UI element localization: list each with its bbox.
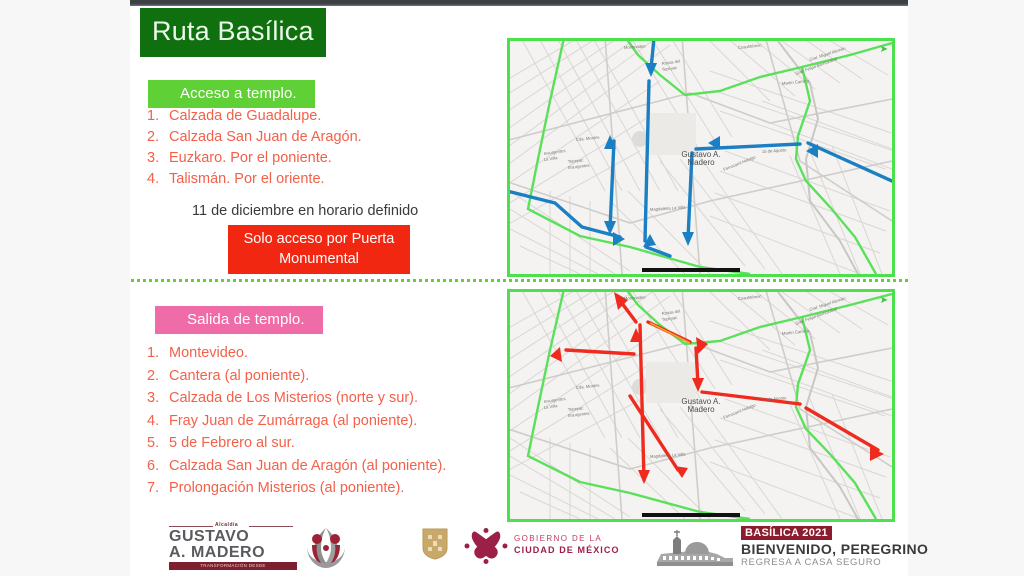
cdmx-line1: GOBIERNO DE LA <box>514 534 602 543</box>
page-title: Ruta Basílica <box>140 8 326 57</box>
list-number: 5. <box>147 432 169 455</box>
basilica-skyline-icon <box>655 528 735 566</box>
list-label: Prolongación Misterios (al poniente). <box>169 477 404 500</box>
list-number: 3. <box>147 148 169 169</box>
block-shape <box>646 113 696 155</box>
logo-basilica-2021: BASÍLICA 2021 BIENVENIDO, PEREGRINO REGR… <box>655 524 900 570</box>
list-number: 1. <box>147 106 169 127</box>
access-route-list: 1. Calzada de Guadalupe. 2. Calzada San … <box>147 106 362 190</box>
list-label: Montevideo. <box>169 342 248 365</box>
list-item: 5. 5 de Febrero al sur. <box>147 432 446 455</box>
list-item: 2. Calzada San Juan de Aragón. <box>147 127 362 148</box>
logo-rule-left <box>169 526 213 527</box>
red-note-line1: Solo acceso por Puerta <box>228 229 410 249</box>
list-label: Fray Juan de Zumárraga (al poniente). <box>169 410 417 433</box>
list-label: Calzada San Juan de Aragón. <box>169 127 362 148</box>
exit-route-list: 1. Montevideo. 2. Cantera (al poniente).… <box>147 342 446 500</box>
slide-root: Ruta Basílica Acceso a templo. 1. Calzad… <box>0 0 1024 576</box>
list-item: 4. Talismán. Por el oriente. <box>147 169 362 190</box>
block-shape <box>646 362 696 403</box>
section-badge-exit: Salida de templo. <box>155 306 323 334</box>
cdmx-shield-icon <box>422 528 448 560</box>
section-divider <box>131 279 908 282</box>
list-item: 1. Montevideo. <box>147 342 446 365</box>
top-bar <box>130 0 908 6</box>
list-item: 4. Fray Juan de Zumárraga (al poniente). <box>147 410 446 433</box>
map-access[interactable]: Montevideo Rosas del Tepeyac Cuauhtémoc … <box>507 38 895 277</box>
logo-gobierno-cdmx: GOBIERNO DE LA CIUDAD DE MÉXICO <box>422 528 652 568</box>
list-label: Calzada San Juan de Aragón (al poniente)… <box>169 455 446 478</box>
list-label: Calzada de Los Misterios (norte y sur). <box>169 387 418 410</box>
list-number: 4. <box>147 410 169 433</box>
list-item: 2. Cantera (al poniente). <box>147 365 446 388</box>
map-scale-bar <box>642 268 740 272</box>
list-number: 2. <box>147 365 169 388</box>
logo-gam-tagline: TRANSFORMACIÓN DESDE <box>169 562 297 570</box>
map-exit-canvas: Montevideo Rosas del Tepeyac Cuauhtémoc … <box>510 292 892 519</box>
list-number: 7. <box>147 477 169 500</box>
cdmx-line2: CIUDAD DE MÉXICO <box>514 545 620 555</box>
logo-gustavo-a-madero: Alcaldía GUSTAVO A. MADERO TRANSFORMACIÓ… <box>165 522 350 570</box>
basilica-line1: BASÍLICA 2021 <box>741 526 832 540</box>
red-warning-note: Solo acceso por Puerta Monumental <box>228 225 410 274</box>
list-item: 1. Calzada de Guadalupe. <box>147 106 362 127</box>
section-badge-access: Acceso a templo. <box>148 80 315 108</box>
list-label: Calzada de Guadalupe. <box>169 106 321 127</box>
list-label: Euzkaro. Por el poniente. <box>169 148 332 169</box>
cdmx-glyph-icon <box>464 528 508 564</box>
footer-logos: Alcaldía GUSTAVO A. MADERO TRANSFORMACIÓ… <box>130 516 908 576</box>
basilica-line2: BIENVENIDO, PEREGRINO <box>741 541 928 557</box>
list-number: 6. <box>147 455 169 478</box>
list-item: 3. Euzkaro. Por el poniente. <box>147 148 362 169</box>
location-arrow-icon: ➤ <box>880 44 888 55</box>
logo-rule-right <box>249 526 293 527</box>
logo-gam-line2: A. MADERO <box>169 544 265 562</box>
red-note-line2: Monumental <box>228 249 410 269</box>
location-arrow-icon: ➤ <box>880 295 888 306</box>
plaza-marker <box>632 131 648 147</box>
map-access-canvas: Montevideo Rosas del Tepeyac Cuauhtémoc … <box>510 41 892 274</box>
map-exit[interactable]: Montevideo Rosas del Tepeyac Cuauhtémoc … <box>507 289 895 522</box>
list-item: 7. Prolongación Misterios (al poniente). <box>147 477 446 500</box>
list-number: 3. <box>147 387 169 410</box>
list-number: 1. <box>147 342 169 365</box>
date-note: 11 de diciembre en horario definido <box>192 203 418 219</box>
list-number: 4. <box>147 169 169 190</box>
list-label: Cantera (al poniente). <box>169 365 309 388</box>
list-item: 6. Calzada San Juan de Aragón (al ponien… <box>147 455 446 478</box>
gam-people-hands-icon <box>303 524 349 570</box>
list-label: Talismán. Por el oriente. <box>169 169 325 190</box>
basilica-line3: REGRESA A CASA SEGURO <box>741 557 881 568</box>
list-item: 3. Calzada de Los Misterios (norte y sur… <box>147 387 446 410</box>
list-number: 2. <box>147 127 169 148</box>
logo-gam-tagline-bar: TRANSFORMACIÓN DESDE <box>169 562 297 570</box>
list-label: 5 de Febrero al sur. <box>169 432 295 455</box>
